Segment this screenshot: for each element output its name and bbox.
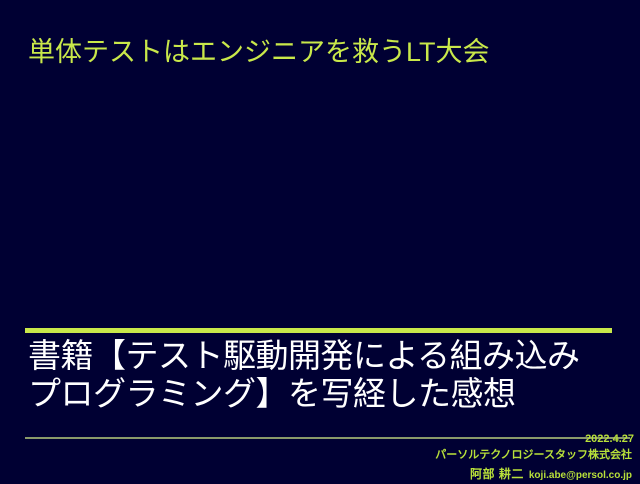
presentation-slide: 単体テストはエンジニアを救うLT大会 書籍【テスト駆動開発による組み込み プログ… <box>0 0 640 480</box>
title-line-2: プログラミング】を写経した感想 <box>28 375 516 412</box>
footer-company: パーソルテクノロジースタッフ株式会社 <box>212 446 632 463</box>
title-line-1: 書籍【テスト駆動開発による組み込み <box>28 337 580 374</box>
footer-presenter: 阿部 耕二koji.abe@persol.co.jp <box>212 463 632 484</box>
presenter-name: 阿部 耕二 <box>470 467 524 481</box>
event-header: 単体テストはエンジニアを救うLT大会 <box>28 32 612 72</box>
presenter-email: koji.abe@persol.co.jp <box>524 470 632 481</box>
page-title: 書籍【テスト駆動開発による組み込み プログラミング】を写経した感想 <box>25 333 628 413</box>
slide-footer: 2022.4.27 パーソルテクノロジースタッフ株式会社 阿部 耕二koji.a… <box>212 433 632 484</box>
footer-date: 2022.4.27 <box>212 433 634 446</box>
title-block: 書籍【テスト駆動開発による組み込み プログラミング】を写経した感想 <box>25 328 615 413</box>
